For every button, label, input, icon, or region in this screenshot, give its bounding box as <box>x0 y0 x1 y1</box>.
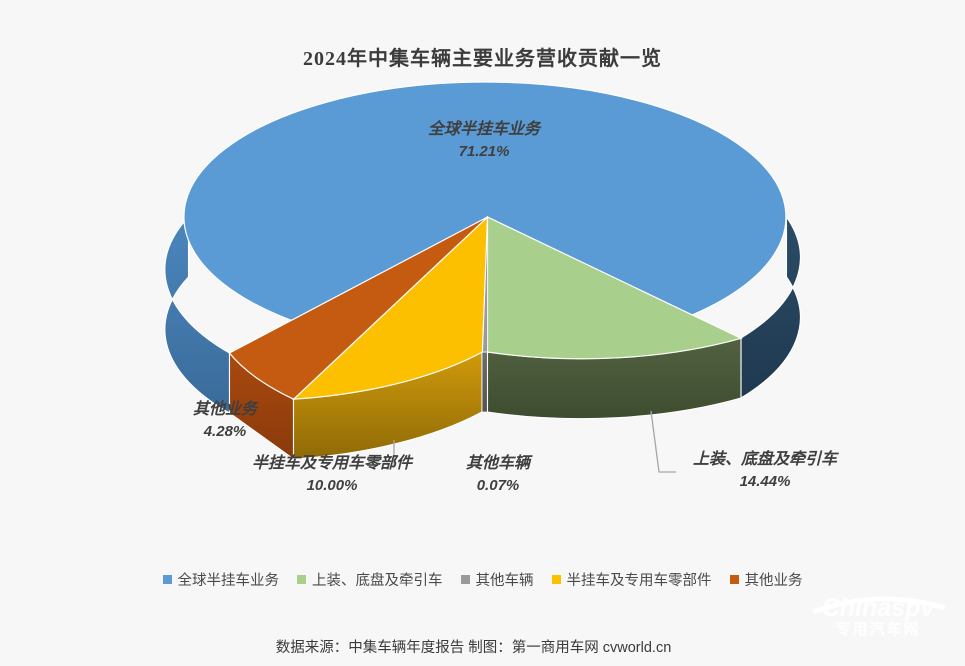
legend-item-lingbujian[interactable]: 半挂车及专用车零部件 <box>552 569 712 590</box>
legend-label: 其他车辆 <box>476 569 534 590</box>
slice-label-value: 14.44% <box>640 471 890 493</box>
slice-label-lingbujian: 半挂车及专用车零部件 10.00% <box>172 452 492 497</box>
pie-3d-graphic <box>0 0 965 666</box>
pie-chart-figure: 2024年中集车辆主要业务营收贡献一览 <box>0 0 965 666</box>
legend-item-qitacheliang[interactable]: 其他车辆 <box>461 569 534 590</box>
slice-label-value: 10.00% <box>172 475 492 497</box>
legend-item-qitayewu[interactable]: 其他业务 <box>730 569 803 590</box>
slice-label-quanqiubanguache: 全球半挂车业务 71.21% <box>334 118 634 163</box>
legend-label: 全球半挂车业务 <box>178 569 280 590</box>
legend-swatch-icon <box>163 575 172 584</box>
legend-label: 半挂车及专用车零部件 <box>567 569 712 590</box>
legend-label: 上装、底盘及牵引车 <box>312 569 443 590</box>
legend-swatch-icon <box>461 575 470 584</box>
slice-label-value: 71.21% <box>334 141 634 163</box>
legend-item-shangzhuang[interactable]: 上装、底盘及牵引车 <box>297 569 443 590</box>
legend-swatch-icon <box>552 575 561 584</box>
slice-label-name: 上装、底盘及牵引车 <box>640 448 890 471</box>
slice-label-name: 半挂车及专用车零部件 <box>172 452 492 475</box>
slice-label-shangzhuang: 上装、底盘及牵引车 14.44% <box>640 448 890 493</box>
chart-legend: 全球半挂车业务 上装、底盘及牵引车 其他车辆 半挂车及专用车零部件 其他业务 <box>0 569 965 590</box>
source-note: 数据来源：中集车辆年度报告 制图：第一商用车网 cvworld.cn <box>0 636 965 657</box>
legend-swatch-icon <box>730 575 739 584</box>
legend-swatch-icon <box>297 575 306 584</box>
slice-label-value: 4.28% <box>140 421 310 443</box>
legend-label: 其他业务 <box>745 569 803 590</box>
slice-label-name: 全球半挂车业务 <box>334 118 634 141</box>
legend-item-quanqiubanguache[interactable]: 全球半挂车业务 <box>163 569 280 590</box>
slice-label-qitayewu: 其他业务 4.28% <box>140 398 310 443</box>
slice-label-name: 其他业务 <box>140 398 310 421</box>
